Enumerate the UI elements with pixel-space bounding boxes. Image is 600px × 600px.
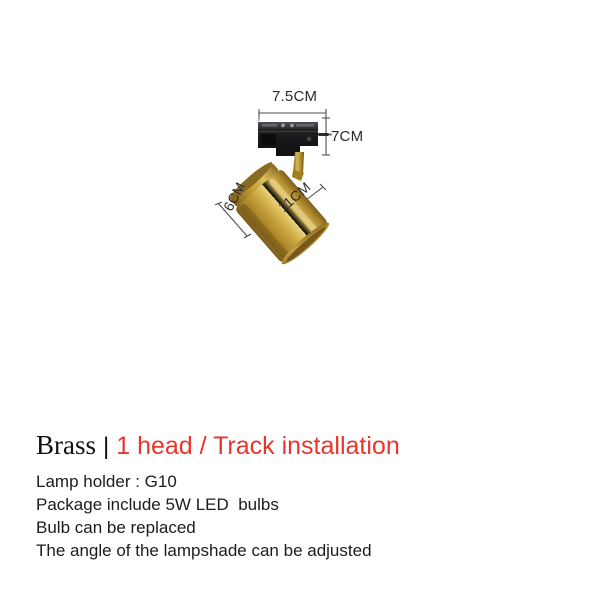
product-figure: 7.5CM 7CM 11CM 6CM bbox=[0, 0, 600, 400]
adapter-side-pin bbox=[318, 133, 329, 136]
adapter-contact-strip bbox=[262, 124, 277, 127]
brass-lamp-barrel bbox=[225, 157, 333, 268]
brass-pivot-stem bbox=[292, 152, 304, 181]
headline-material: Brass bbox=[36, 430, 96, 460]
product-headline: Brass|1 head / Track installation bbox=[36, 428, 576, 464]
spec-line-package: Package include 5W LED bulbs bbox=[36, 493, 576, 516]
spec-line-angle-adjustable: The angle of the lampshade can be adjust… bbox=[36, 539, 576, 562]
spec-line-lamp-holder: Lamp holder : G10 bbox=[36, 470, 576, 493]
spec-line-bulb-replaceable: Bulb can be replaced bbox=[36, 516, 576, 539]
track-adapter bbox=[258, 122, 332, 156]
headline-divider: | bbox=[96, 433, 116, 460]
product-description: Brass|1 head / Track installation Lamp h… bbox=[36, 428, 576, 562]
dimension-label-width: 7.5CM bbox=[272, 88, 317, 105]
dimension-label-height: 7CM bbox=[331, 128, 363, 145]
headline-variant: 1 head / Track installation bbox=[116, 432, 400, 460]
